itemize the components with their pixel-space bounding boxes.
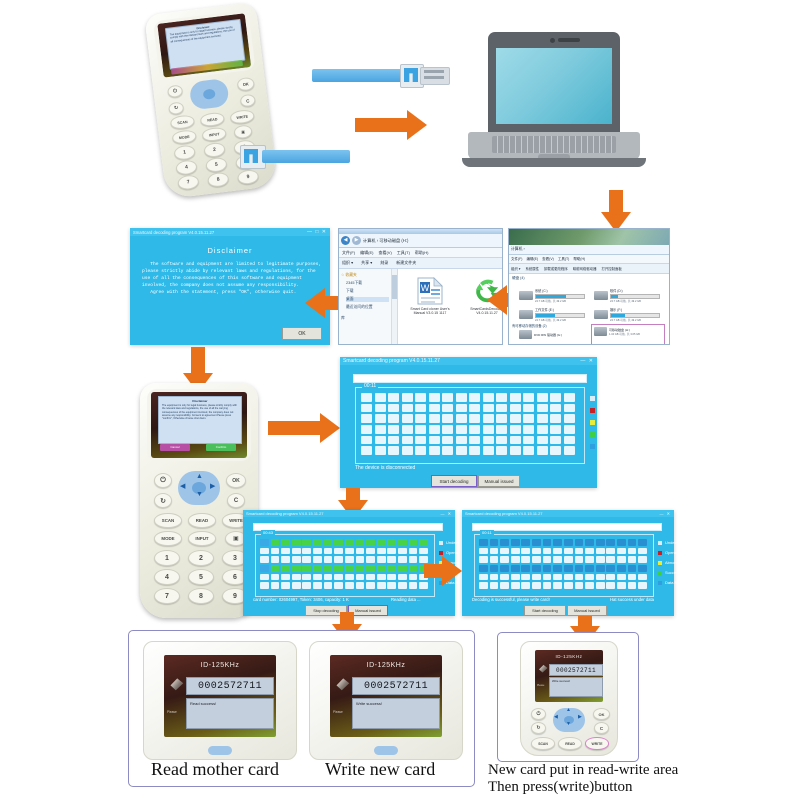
grid-cell[interactable]	[377, 582, 386, 589]
removable-disk-highlight[interactable]: 可移动磁盘 (H:) 1.34 GB 可用，共 3.65 GB	[591, 324, 665, 345]
grid-cell[interactable]	[281, 548, 290, 555]
grid-cell[interactable]	[638, 556, 647, 563]
menu2-view[interactable]: 查看(V)	[542, 257, 554, 262]
grid-cell[interactable]	[442, 425, 453, 434]
grid-cell[interactable]	[585, 539, 594, 546]
device-mid-cancel[interactable]: Cancel	[160, 444, 190, 451]
grid-cell[interactable]	[324, 582, 333, 589]
grid-cell[interactable]	[617, 565, 626, 572]
scan-key-mid[interactable]: SCAN	[154, 513, 182, 528]
grid-cell[interactable]	[490, 582, 499, 589]
grid-cell[interactable]	[375, 414, 386, 423]
grid-cell[interactable]	[388, 404, 399, 413]
grid-cell[interactable]	[361, 404, 372, 413]
grid-cell[interactable]	[398, 565, 407, 572]
grid-cell[interactable]	[398, 556, 407, 563]
grid-cell[interactable]	[606, 582, 615, 589]
grid-cell[interactable]	[387, 556, 396, 563]
grid-cell[interactable]	[500, 574, 509, 581]
grid-cell[interactable]	[456, 446, 467, 455]
grid-cell[interactable]	[483, 446, 494, 455]
start-decoding-button[interactable]: Start decoding	[431, 475, 477, 487]
device-mid-confirm[interactable]: Confirm	[206, 444, 236, 451]
grid-cell[interactable]	[281, 539, 290, 546]
grid-cell[interactable]	[302, 539, 311, 546]
grid-cell[interactable]	[483, 404, 494, 413]
grid-cell[interactable]	[415, 425, 426, 434]
grid-cell[interactable]	[496, 414, 507, 423]
grid-cell[interactable]	[415, 404, 426, 413]
grid-cell[interactable]	[564, 582, 573, 589]
back-button[interactable]: ↻	[168, 101, 184, 115]
grid-cell[interactable]	[553, 539, 562, 546]
grid-cell[interactable]	[415, 414, 426, 423]
grid-cell[interactable]	[260, 565, 269, 572]
grid-cell[interactable]	[313, 565, 322, 572]
grid-cell[interactable]	[366, 539, 375, 546]
dpad-left-icon[interactable]: ◀	[180, 482, 185, 490]
toolbar2-mapdrive[interactable]: 映射网络驱动器	[573, 266, 597, 271]
grid-cell[interactable]	[500, 556, 509, 563]
grid-cell[interactable]	[377, 548, 386, 555]
grid-cell[interactable]	[442, 393, 453, 402]
grid-cell[interactable]	[553, 548, 562, 555]
menu2-file[interactable]: 文件(F)	[511, 257, 522, 262]
scan-key[interactable]: SCAN	[170, 114, 195, 130]
num-9[interactable]: 9	[237, 169, 260, 185]
sidebar-item-desktop[interactable]: 桌面	[346, 297, 389, 302]
grid-cell[interactable]	[361, 414, 372, 423]
grid-cell[interactable]	[313, 556, 322, 563]
grid-cell[interactable]	[511, 565, 520, 572]
grid-cell[interactable]	[366, 548, 375, 555]
final-cancel-button[interactable]: C	[594, 722, 609, 734]
final-read-key[interactable]: READ	[558, 737, 582, 750]
grid-cell[interactable]	[469, 436, 480, 445]
grid-cell[interactable]	[564, 548, 573, 555]
grid-cell[interactable]	[281, 556, 290, 563]
removable-dvd-row[interactable]: DVD RW 驱动器 (G:)	[519, 330, 581, 339]
grid-cell[interactable]	[500, 582, 509, 589]
read-key-mid[interactable]: READ	[188, 513, 216, 528]
toolbar2-cpanel[interactable]: 打开控制面板	[601, 266, 621, 271]
final-dpad-right-icon[interactable]: ▶	[578, 714, 582, 720]
grid-cell[interactable]	[564, 565, 573, 572]
grid-cell[interactable]	[550, 393, 561, 402]
drive-row[interactable]: 系统 (C:) 24.7 GB 可用，共 49.2 GB	[519, 288, 589, 303]
grid-cell[interactable]	[442, 446, 453, 455]
grid-cell[interactable]	[521, 565, 530, 572]
grid-cell[interactable]	[402, 393, 413, 402]
grid-cell[interactable]	[398, 548, 407, 555]
grid-cell[interactable]	[388, 425, 399, 434]
grid-cell[interactable]	[356, 556, 365, 563]
grid-cell[interactable]	[366, 582, 375, 589]
ok-button-mid[interactable]: OK	[226, 473, 246, 488]
menu-file[interactable]: 文件(F)	[342, 250, 355, 256]
grid-cell[interactable]	[564, 404, 575, 413]
grid-cell[interactable]	[532, 582, 541, 589]
grid-cell[interactable]	[496, 446, 507, 455]
grid-cell[interactable]	[387, 548, 396, 555]
grid-cell[interactable]	[564, 574, 573, 581]
grid-cell[interactable]	[324, 556, 333, 563]
grid-cell[interactable]	[356, 574, 365, 581]
grid-cell[interactable]	[456, 436, 467, 445]
menu2-edit[interactable]: 编辑(E)	[526, 257, 538, 262]
final-scan-key[interactable]: SCAN	[531, 737, 555, 750]
grid-cell[interactable]	[543, 565, 552, 572]
grid-cell[interactable]	[628, 582, 637, 589]
menu2-help[interactable]: 帮助(H)	[573, 257, 585, 262]
grid-cell[interactable]	[596, 556, 605, 563]
grid-cell[interactable]	[537, 436, 548, 445]
grid-cell[interactable]	[483, 425, 494, 434]
grid-cell[interactable]	[638, 574, 647, 581]
start-decoding-button-3[interactable]: Start decoding	[524, 605, 566, 616]
grid-cell[interactable]	[521, 539, 530, 546]
grid-cell[interactable]	[553, 582, 562, 589]
grid-cell[interactable]	[483, 436, 494, 445]
grid-cell[interactable]	[402, 425, 413, 434]
grid-cell[interactable]	[409, 565, 418, 572]
num-1-mid[interactable]: 1	[154, 550, 180, 566]
drive-row[interactable]: 娱乐 (F:) 24.7 GB 可用，共 49.2 GB	[594, 307, 664, 322]
explorer-menubar-2[interactable]: 文件(F) 编辑(E) 查看(V) 工具(T) 帮助(H)	[509, 255, 669, 264]
grid-cell[interactable]	[313, 539, 322, 546]
grid-cell[interactable]	[260, 582, 269, 589]
num-7-mid[interactable]: 7	[154, 588, 180, 604]
grid-cell[interactable]	[510, 404, 521, 413]
grid-cell[interactable]	[532, 574, 541, 581]
num-5-mid[interactable]: 5	[188, 569, 214, 585]
grid-cell[interactable]	[500, 539, 509, 546]
grid-cell[interactable]	[334, 548, 343, 555]
result-write-button[interactable]	[374, 746, 398, 755]
grid-cell[interactable]	[292, 565, 301, 572]
grid-cell[interactable]	[617, 548, 626, 555]
decoder2-window-controls[interactable]: — ✕	[441, 511, 452, 516]
num-4-mid[interactable]: 4	[154, 569, 180, 585]
grid-cell[interactable]	[334, 574, 343, 581]
toolbar-organize[interactable]: 组织 ▾	[342, 260, 353, 266]
sidebar-item-library[interactable]: 库	[341, 316, 389, 321]
grid-cell[interactable]	[398, 539, 407, 546]
explorer-sidebar[interactable]: ☆ 收藏夹 2345下载 下载 桌面 最近访问的位置 库	[339, 269, 392, 345]
grid-cell[interactable]	[496, 436, 507, 445]
final-power-button[interactable]: ⏻	[531, 708, 546, 720]
grid-cell[interactable]	[638, 582, 647, 589]
grid-cell[interactable]	[302, 556, 311, 563]
grid-cell[interactable]	[366, 556, 375, 563]
grid-cell[interactable]	[585, 548, 594, 555]
num-4[interactable]: 4	[175, 159, 198, 175]
grid-cell[interactable]	[496, 425, 507, 434]
grid-cell[interactable]	[456, 425, 467, 434]
grid-cell[interactable]	[429, 425, 440, 434]
grid-cell[interactable]	[409, 539, 418, 546]
grid-cell[interactable]	[356, 539, 365, 546]
menu-tools[interactable]: 工具(T)	[397, 250, 410, 256]
grid-cell[interactable]	[553, 556, 562, 563]
grid-cell[interactable]	[313, 582, 322, 589]
grid-cell[interactable]	[585, 574, 594, 581]
grid-cell[interactable]	[361, 425, 372, 434]
grid-cell[interactable]	[409, 556, 418, 563]
grid-cell[interactable]	[511, 548, 520, 555]
grid-cell[interactable]	[585, 565, 594, 572]
grid-cell[interactable]	[575, 565, 584, 572]
grid-cell[interactable]	[388, 414, 399, 423]
final-dpad-down-icon[interactable]: ▼	[566, 721, 571, 727]
grid-cell[interactable]	[479, 539, 488, 546]
grid-cell[interactable]	[442, 436, 453, 445]
grid-cell[interactable]	[419, 548, 428, 555]
grid-cell[interactable]	[606, 574, 615, 581]
grid-cell[interactable]	[532, 565, 541, 572]
grid-cell[interactable]	[521, 548, 530, 555]
grid-cell[interactable]	[537, 404, 548, 413]
grid-cell[interactable]	[292, 539, 301, 546]
grid-cell[interactable]	[550, 414, 561, 423]
grid-cell[interactable]	[334, 565, 343, 572]
explorer-toolbar[interactable]: 组织 ▾ 共享 ▾ 刻录 新建文件夹	[339, 258, 502, 269]
grid-cell[interactable]	[402, 446, 413, 455]
grid-cell[interactable]	[292, 574, 301, 581]
grid-cell[interactable]	[575, 582, 584, 589]
grid-cell[interactable]	[550, 404, 561, 413]
grid-cell[interactable]	[564, 393, 575, 402]
grid-cell[interactable]	[638, 548, 647, 555]
grid-cell[interactable]	[388, 393, 399, 402]
num-8-mid[interactable]: 8	[188, 588, 214, 604]
grid-cell[interactable]	[564, 414, 575, 423]
grid-cell[interactable]	[387, 539, 396, 546]
decoder3-window-controls[interactable]: — ✕	[660, 511, 671, 516]
grid-cell[interactable]	[543, 574, 552, 581]
grid-cell[interactable]	[302, 548, 311, 555]
grid-cell[interactable]	[617, 556, 626, 563]
grid-cell[interactable]	[496, 404, 507, 413]
grid-cell[interactable]	[500, 548, 509, 555]
grid-cell[interactable]	[564, 446, 575, 455]
num-8[interactable]: 8	[207, 171, 230, 187]
grid-cell[interactable]	[521, 582, 530, 589]
grid-cell[interactable]	[388, 446, 399, 455]
grid-cell[interactable]	[469, 404, 480, 413]
grid-cell[interactable]	[628, 548, 637, 555]
grid-cell[interactable]	[271, 548, 280, 555]
manual-issued-button-3[interactable]: Manual issued	[567, 605, 607, 616]
grid-cell[interactable]	[345, 539, 354, 546]
grid-cell[interactable]	[281, 565, 290, 572]
grid-cell[interactable]	[324, 565, 333, 572]
grid-cell[interactable]	[537, 425, 548, 434]
grid-cell[interactable]	[537, 446, 548, 455]
grid-cell[interactable]	[575, 556, 584, 563]
grid-cell[interactable]	[550, 436, 561, 445]
grid-cell[interactable]	[375, 446, 386, 455]
num-7[interactable]: 7	[177, 174, 200, 190]
grid-cell[interactable]	[511, 556, 520, 563]
grid-cell[interactable]	[553, 574, 562, 581]
grid-cell[interactable]	[564, 425, 575, 434]
grid-cell[interactable]	[429, 446, 440, 455]
grid-cell[interactable]	[479, 582, 488, 589]
grid-cell[interactable]	[575, 548, 584, 555]
menu2-tools[interactable]: 工具(T)	[558, 257, 569, 262]
grid-cell[interactable]	[313, 548, 322, 555]
grid-cell[interactable]	[510, 425, 521, 434]
grid-cell[interactable]	[366, 574, 375, 581]
num-2-mid[interactable]: 2	[188, 550, 214, 566]
grid-cell[interactable]	[375, 393, 386, 402]
grid-cell[interactable]	[260, 556, 269, 563]
grid-cell[interactable]	[334, 582, 343, 589]
grid-cell[interactable]	[387, 574, 396, 581]
grid-cell[interactable]	[469, 393, 480, 402]
grid-cell[interactable]	[429, 436, 440, 445]
grid-cell[interactable]	[377, 556, 386, 563]
grid-cell[interactable]	[260, 574, 269, 581]
grid-cell[interactable]	[260, 539, 269, 546]
grid-cell[interactable]	[575, 539, 584, 546]
grid-cell[interactable]	[550, 425, 561, 434]
grid-cell[interactable]	[564, 436, 575, 445]
grid-cell[interactable]	[543, 582, 552, 589]
grid-cell[interactable]	[537, 393, 548, 402]
grid-cell[interactable]	[469, 414, 480, 423]
disclaimer-ok-button[interactable]: OK	[282, 327, 322, 340]
grid-cell[interactable]	[532, 556, 541, 563]
back-icon[interactable]: ◀	[341, 236, 350, 245]
grid-cell[interactable]	[334, 556, 343, 563]
drive-row[interactable]: 工作文件 (E:) 24.7 GB 可用，共 49.2 GB	[519, 307, 589, 322]
grid-cell[interactable]	[553, 565, 562, 572]
manual-issued-button[interactable]: Manual issued	[478, 475, 520, 487]
grid-cell[interactable]	[409, 582, 418, 589]
grid-cell[interactable]	[260, 548, 269, 555]
grid-cell[interactable]	[456, 404, 467, 413]
sidebar-item-recent[interactable]: 最近访问的位置	[346, 305, 389, 310]
grid-cell[interactable]	[606, 548, 615, 555]
grid-cell[interactable]	[387, 582, 396, 589]
grid-cell[interactable]	[523, 404, 534, 413]
menu-edit[interactable]: 编辑(E)	[360, 250, 373, 256]
grid-cell[interactable]	[313, 574, 322, 581]
decoder-window-controls[interactable]: — ✕	[580, 358, 594, 364]
grid-cell[interactable]	[617, 574, 626, 581]
grid-cell[interactable]	[490, 574, 499, 581]
grid-cell[interactable]	[543, 548, 552, 555]
input-key[interactable]: INPUT	[201, 126, 226, 142]
grid-cell[interactable]	[375, 436, 386, 445]
grid-cell[interactable]	[271, 556, 280, 563]
ok-button[interactable]: OK	[237, 77, 255, 92]
grid-cell[interactable]	[469, 425, 480, 434]
grid-cell[interactable]	[550, 446, 561, 455]
grid-cell[interactable]	[523, 446, 534, 455]
grid-cell[interactable]	[292, 548, 301, 555]
grid-cell[interactable]	[324, 548, 333, 555]
grid-cell[interactable]	[521, 556, 530, 563]
final-back-button[interactable]: ↻	[531, 722, 546, 734]
grid-cell[interactable]	[638, 539, 647, 546]
grid-cell[interactable]	[606, 556, 615, 563]
grid-cell[interactable]	[456, 393, 467, 402]
grid-cell[interactable]	[302, 565, 311, 572]
grid-cell[interactable]	[292, 582, 301, 589]
num-5[interactable]: 5	[205, 157, 228, 173]
grid-cell[interactable]	[628, 565, 637, 572]
sidebar-item-favorites[interactable]: ☆ 收藏夹	[341, 272, 389, 278]
final-ok-button[interactable]: OK	[593, 708, 610, 720]
grid-cell[interactable]	[596, 582, 605, 589]
grid-cell[interactable]	[483, 414, 494, 423]
dpad-down-icon[interactable]: ▼	[196, 491, 203, 498]
grid-cell[interactable]	[543, 539, 552, 546]
grid-cell[interactable]	[606, 565, 615, 572]
grid-cell[interactable]	[617, 582, 626, 589]
grid-cell[interactable]	[398, 574, 407, 581]
grid-cell[interactable]	[532, 548, 541, 555]
read-key[interactable]: READ	[200, 112, 225, 128]
mode-key[interactable]: MODE	[172, 129, 197, 145]
grid-cell[interactable]	[356, 582, 365, 589]
grid-cell[interactable]	[596, 539, 605, 546]
grid-cell[interactable]	[479, 556, 488, 563]
grid-cell[interactable]	[523, 425, 534, 434]
drive-row[interactable]: 软件 (D:) 24.7 GB 可用，共 49.2 GB	[594, 288, 664, 303]
grid-cell[interactable]	[490, 548, 499, 555]
explorer-menubar[interactable]: 文件(F) 编辑(E) 查看(V) 工具(T) 帮助(H)	[339, 248, 502, 258]
grid-cell[interactable]	[523, 436, 534, 445]
final-dpad-left-icon[interactable]: ◀	[554, 714, 558, 720]
grid-cell[interactable]	[628, 556, 637, 563]
grid-cell[interactable]	[419, 539, 428, 546]
explorer-file-area[interactable]: W Smart Card cloner User's Manual V3.0.1…	[392, 269, 502, 345]
grid-cell[interactable]	[402, 404, 413, 413]
grid-cell[interactable]	[377, 539, 386, 546]
grid-cell[interactable]	[398, 582, 407, 589]
grid-cell[interactable]	[564, 556, 573, 563]
window-controls[interactable]: — □ ✕	[307, 229, 327, 235]
grid-cell[interactable]	[628, 539, 637, 546]
grid-cell[interactable]	[334, 539, 343, 546]
grid-cell[interactable]	[345, 582, 354, 589]
grid-cell[interactable]	[479, 548, 488, 555]
power-button[interactable]: ⏻	[167, 84, 183, 98]
cancel-button-mid[interactable]: C	[227, 493, 245, 508]
grid-cell[interactable]	[375, 425, 386, 434]
grid-cell[interactable]	[271, 565, 280, 572]
grid-cell[interactable]	[345, 548, 354, 555]
grid-cell[interactable]	[409, 574, 418, 581]
grid-cell[interactable]	[429, 393, 440, 402]
forward-icon[interactable]: ▶	[352, 236, 361, 245]
toolbar-burn[interactable]: 刻录	[380, 260, 388, 266]
toolbar-newfolder[interactable]: 新建文件夹	[396, 260, 416, 266]
grid-cell[interactable]	[490, 565, 499, 572]
grid-cell[interactable]	[585, 556, 594, 563]
toolbar2-sysprops[interactable]: 系统属性	[525, 266, 539, 271]
grid-cell[interactable]	[356, 565, 365, 572]
decoder-cell-grid[interactable]	[361, 393, 575, 455]
grid-cell[interactable]	[596, 565, 605, 572]
explorer-drive-area[interactable]: 硬盘 (4) 系统 (C:) 24.7 GB 可用，共 49.2 GB 软件 (…	[509, 274, 669, 345]
grid-cell[interactable]	[469, 446, 480, 455]
grid-cell[interactable]	[302, 582, 311, 589]
